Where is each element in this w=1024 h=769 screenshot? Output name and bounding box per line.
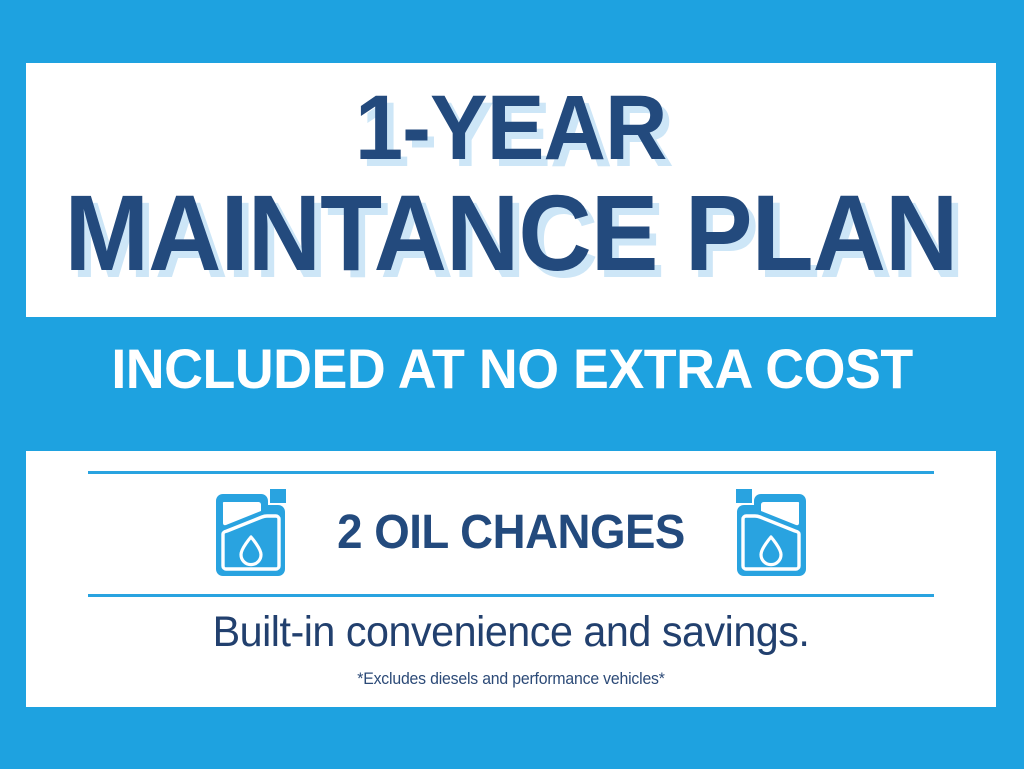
- divider-top: [88, 471, 934, 474]
- headline-card: 1-YEAR MAINTANCE PLAN: [26, 63, 996, 317]
- fineprint-disclaimer: *Excludes diesels and performance vehicl…: [60, 670, 962, 687]
- offer-row: 2 OIL CHANGES: [26, 477, 996, 589]
- promo-poster: 1-YEAR MAINTANCE PLAN INCLUDED AT NO EXT…: [0, 0, 1024, 769]
- subtitle-banner: INCLUDED AT NO EXTRA COST: [20, 341, 1003, 397]
- oil-jug-icon-right: [734, 487, 810, 579]
- oil-jug-icon-left: [212, 487, 288, 579]
- divider-bottom: [88, 594, 934, 597]
- tagline: Built-in convenience and savings.: [45, 611, 976, 654]
- headline-line-one: 1-YEAR: [355, 85, 667, 172]
- details-card: 2 OIL CHANGES Built-in convenience and s…: [26, 451, 996, 707]
- offer-label: 2 OIL CHANGES: [337, 509, 685, 557]
- headline-line-two: MAINTANCE PLAN: [65, 182, 958, 285]
